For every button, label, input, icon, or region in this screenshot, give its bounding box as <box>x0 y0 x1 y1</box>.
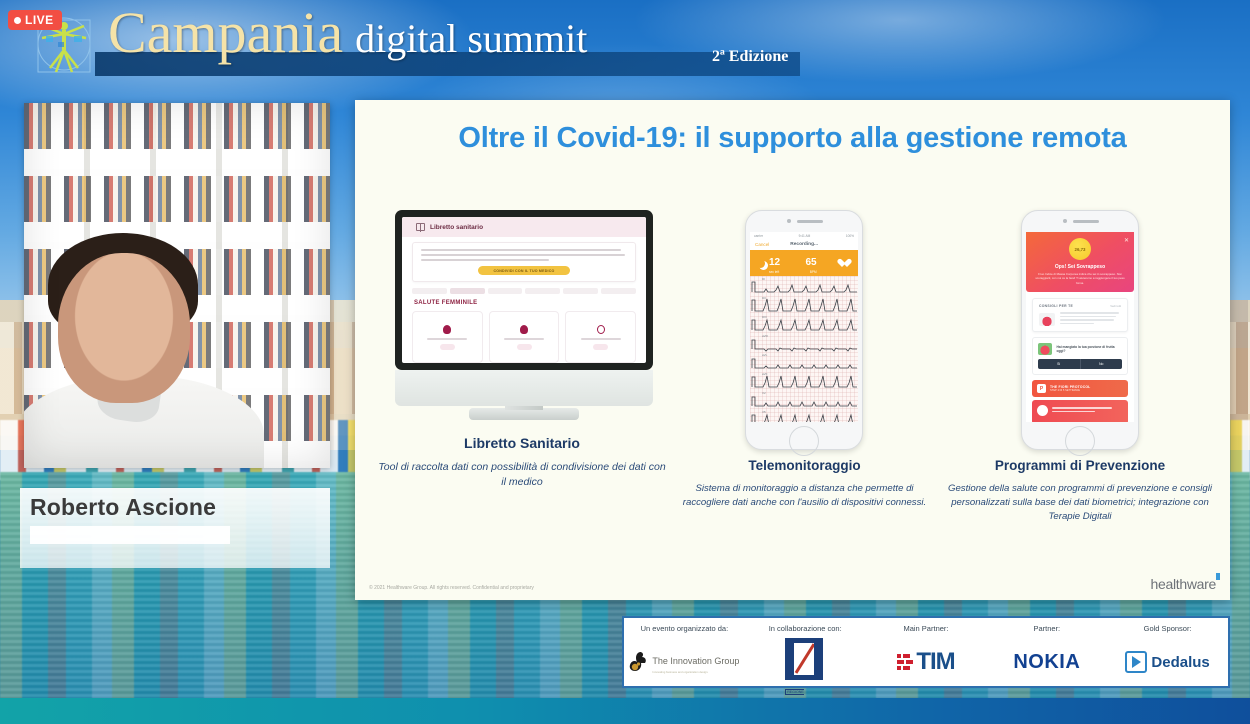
protocol-subtitle: STEP 4 DI 5 SETTIMANE <box>1050 389 1090 392</box>
tim-mark-icon <box>897 654 913 670</box>
advice-row <box>1039 312 1121 326</box>
speaker-nameplate: Roberto Ascione <box>20 488 330 568</box>
sponsor-organizer: Un evento organizzato da: The Innovation… <box>624 618 745 686</box>
bpm-value: 65 <box>806 257 817 268</box>
share-button-label: CONDIVIDI CON IL TUO MEDICO <box>493 269 554 273</box>
card-label <box>504 338 544 340</box>
question-text: Hai mangiato la tua porzione di frutta o… <box>1057 345 1123 355</box>
live-badge: LIVE <box>8 10 62 30</box>
app-card[interactable] <box>489 311 560 363</box>
ecg-metrics-bar: 12 sec left 65 BPM <box>750 250 858 276</box>
tab-stile-di-vita[interactable] <box>488 288 523 294</box>
text-line <box>421 249 621 251</box>
innovation-group-tagline: Innovating business and organization des… <box>652 670 739 674</box>
sponsor-partner: Partner: NOKIA <box>986 618 1107 686</box>
app-intro-card: CONDIVIDI CON IL TUO MEDICO <box>412 242 636 282</box>
edition-label: 2ª Edizione <box>712 48 788 66</box>
broadcast-stage: LIVE Campania digital summit 2ª Edizione <box>0 0 1250 724</box>
sponsor-main-partner: Main Partner: TIM <box>866 618 987 686</box>
book-icon <box>416 223 425 231</box>
card-badge <box>440 344 455 350</box>
sponsor-collaboration: In collaborazione con: REGIONE CAMPANIA <box>745 618 866 686</box>
app-card[interactable] <box>565 311 636 363</box>
app-card[interactable] <box>412 311 483 363</box>
innovation-group-name: The Innovation Group <box>652 656 739 666</box>
advice-text-lines <box>1060 312 1121 326</box>
monitor-screen: Libretto sanitario CONDIVIDI CON IL TUO … <box>402 217 646 363</box>
monitor-body <box>395 370 653 406</box>
innovation-group-logo: The Innovation Group Innovating business… <box>629 638 739 686</box>
ecg-lead-row: DII <box>750 295 858 314</box>
answer-yes-button[interactable]: Sì <box>1038 359 1080 369</box>
app-card-grid <box>412 311 636 363</box>
sponsor-label: In collaborazione con: <box>769 624 842 633</box>
phone-screen: carrier 9:41 AM 100% Cancel Recording... <box>750 232 858 422</box>
healthware-mark-icon <box>1216 573 1220 580</box>
phone-camera-icon <box>787 219 791 223</box>
phone-speaker-icon <box>797 220 823 223</box>
slide-footer: © 2021 Healthware Group. All rights rese… <box>355 566 1230 600</box>
sponsor-label: Main Partner: <box>903 624 948 633</box>
bmi-badge: 26,73 <box>1069 238 1091 260</box>
ecg-lead-row: aVL <box>750 352 858 371</box>
sponsor-bar: Un evento organizzato da: The Innovation… <box>622 616 1230 688</box>
cancel-button[interactable]: Cancel <box>755 242 769 247</box>
ecg-chart-area: DI DII DIII <box>750 276 858 422</box>
status-battery: 100% <box>846 234 854 238</box>
card-badge <box>593 344 608 350</box>
protocol-card-secondary[interactable] <box>1032 400 1128 422</box>
caption-description: Gestione della salute con programmi di p… <box>945 482 1215 524</box>
bmi-value: 26,73 <box>1075 247 1086 252</box>
desktop-monitor-mockup: Libretto sanitario CONDIVIDI CON IL TUO … <box>395 210 653 425</box>
speaker-video-tile[interactable] <box>24 103 330 468</box>
text-line <box>421 254 625 256</box>
protocol-badge-icon: P <box>1037 384 1046 393</box>
bmi-headline: Ops! Sei Sovrappeso <box>1026 264 1134 270</box>
question-row: Hai mangiato la tua porzione di frutta o… <box>1038 343 1122 355</box>
recording-title: Recording... <box>790 242 818 247</box>
slide-columns: Libretto sanitario CONDIVIDI CON IL TUO … <box>355 210 1230 570</box>
campania-shield-icon <box>785 638 823 680</box>
tab-anamnesi[interactable] <box>563 288 598 294</box>
bpm-label: BPM <box>806 270 817 274</box>
watermelon-icon <box>1038 343 1052 355</box>
tab-informazioni-base[interactable] <box>412 288 447 294</box>
close-icon[interactable]: ✕ <box>1124 237 1129 244</box>
event-header: LIVE Campania digital summit 2ª Edizione <box>0 0 1250 90</box>
phone-home-button[interactable] <box>1065 426 1095 456</box>
dedalus-name: Dedalus <box>1151 654 1209 671</box>
status-carrier: carrier <box>754 234 763 238</box>
tab-referti[interactable] <box>601 288 636 294</box>
moon-icon <box>756 259 765 268</box>
drop-icon <box>520 325 528 334</box>
clock-icon <box>597 325 605 334</box>
innovation-group-mark-icon <box>629 651 649 673</box>
tab-misurazioni[interactable] <box>525 288 560 294</box>
ecg-lead-row: DIII <box>750 314 858 333</box>
caption-description: Sistema di monitoraggio a distanza che p… <box>677 482 932 510</box>
caption-title: Libretto Sanitario <box>377 435 667 451</box>
status-bar: carrier 9:41 AM 100% <box>750 232 858 239</box>
bottom-gradient-strip <box>0 698 1250 724</box>
tim-name: TIM <box>916 648 954 676</box>
phone-home-button[interactable] <box>789 426 819 456</box>
presentation-slide[interactable]: Oltre il Covid-19: il supporto alla gest… <box>355 100 1230 600</box>
daily-question-card: Hai mangiato la tua porzione di frutta o… <box>1032 337 1128 375</box>
text-line <box>421 259 549 261</box>
answer-no-button[interactable]: No <box>1080 359 1123 369</box>
advice-more-link[interactable]: Vedi tutti <box>1110 304 1121 308</box>
copyright-notice: © 2021 Healthware Group. All rights rese… <box>369 585 534 591</box>
heart-icon <box>842 258 852 268</box>
protocol-card[interactable]: P THE FIORI PROTOCOL STEP 4 DI 5 SETTIMA… <box>1032 380 1128 397</box>
tim-logo: TIM <box>897 638 954 686</box>
phone-camera-icon <box>1063 219 1067 223</box>
ecg-lead-row: V2 <box>750 390 858 409</box>
timer-label: sec left <box>769 270 780 274</box>
phone-screen: ✕ 26,73 Ops! Sei Sovrappeso Il tuo Indic… <box>1026 232 1134 422</box>
event-wordmark: Campania digital summit <box>108 4 587 62</box>
sponsor-label: Un evento organizzato da: <box>641 624 729 633</box>
phone-speaker-icon <box>1073 220 1099 223</box>
app-header: Libretto sanitario <box>402 217 646 237</box>
slide-title: Oltre il Covid-19: il supporto alla gest… <box>355 122 1230 155</box>
sponsor-label: Gold Sponsor: <box>1144 624 1192 633</box>
smartphone-mockup-ecg: carrier 9:41 AM 100% Cancel Recording... <box>745 210 863 450</box>
drop-icon <box>443 325 451 334</box>
ecg-lead-row: aVR <box>750 333 858 352</box>
caption-title: Telemonitoraggio <box>677 458 932 473</box>
nokia-logo: NOKIA <box>1013 638 1080 686</box>
bmi-subtext: Il tuo Indice di Massa Corporea indica c… <box>1034 272 1126 285</box>
speaker-role-placeholder <box>30 526 230 544</box>
card-label <box>581 338 621 340</box>
sponsor-gold: Gold Sponsor: Dedalus <box>1107 618 1228 686</box>
speaker-name: Roberto Ascione <box>30 494 216 521</box>
live-label: LIVE <box>25 13 54 27</box>
bmi-result-header: ✕ 26,73 Ops! Sei Sovrappeso Il tuo Indic… <box>1026 232 1134 292</box>
monitor-bezel: Libretto sanitario CONDIVIDI CON IL TUO … <box>395 210 653 370</box>
card-badge <box>517 344 532 350</box>
ecg-lead-row: V5 <box>750 409 858 422</box>
nokia-name: NOKIA <box>1013 651 1080 674</box>
caption-title: Programmi di Prevenzione <box>945 458 1215 473</box>
advice-title: CONSIGLI PER TE <box>1039 304 1073 308</box>
tab-salute-femminile[interactable] <box>450 288 485 294</box>
fruit-bowl-icon <box>1039 313 1055 326</box>
healthware-logo: healthware <box>1151 576 1217 592</box>
ecg-lead-row: aVF <box>750 371 858 390</box>
app-tab-bar[interactable] <box>412 288 636 294</box>
app-header-title: Libretto sanitario <box>430 224 483 231</box>
share-with-doctor-button[interactable]: CONDIVIDI CON IL TUO MEDICO <box>478 266 570 275</box>
dedalus-mark-icon <box>1125 651 1147 673</box>
ecg-lead-row: DI <box>750 276 858 295</box>
live-dot-icon <box>14 17 21 24</box>
card-label <box>427 338 467 340</box>
video-vignette <box>24 103 330 468</box>
section-title: SALUTE FEMMINILE <box>414 300 634 306</box>
sponsor-label: Partner: <box>1033 624 1060 633</box>
advice-header: CONSIGLI PER TE Vedi tutti <box>1039 304 1121 308</box>
advice-card[interactable]: CONSIGLI PER TE Vedi tutti <box>1032 298 1128 332</box>
brand-campania: Campania <box>108 4 343 62</box>
caption-description: Tool di raccolta dati con possibilità di… <box>377 460 667 490</box>
dedalus-logo: Dedalus <box>1125 638 1209 686</box>
smartphone-mockup-prevention: ✕ 26,73 Ops! Sei Sovrappeso Il tuo Indic… <box>1021 210 1139 450</box>
nav-bar: Cancel Recording... <box>750 239 858 250</box>
brand-digital-summit: digital summit <box>355 19 587 59</box>
meditation-icon <box>1037 405 1048 416</box>
status-time: 9:41 AM <box>799 234 811 238</box>
answer-buttons: Sì No <box>1038 359 1122 369</box>
timer-value: 12 <box>769 257 780 268</box>
